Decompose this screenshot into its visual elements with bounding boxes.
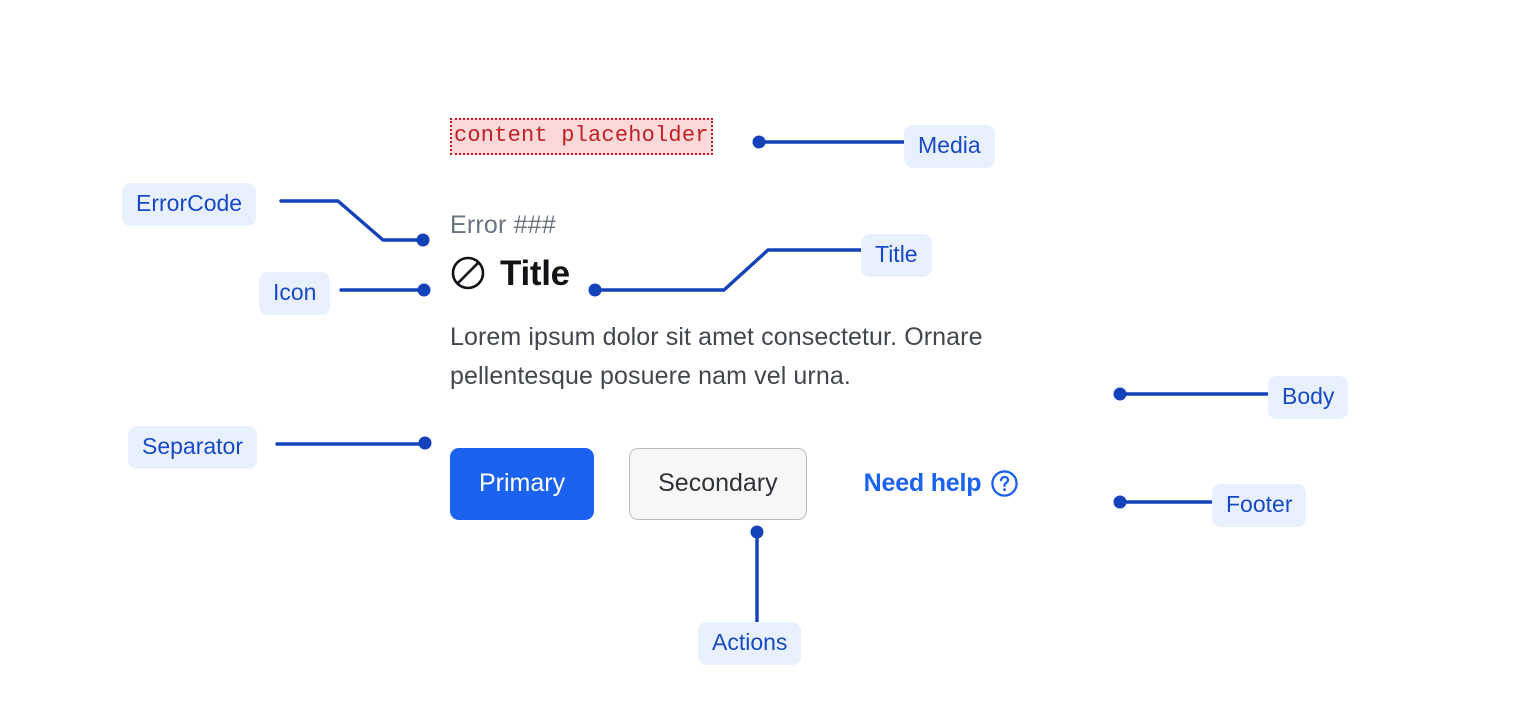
annotation-footer[interactable]: Footer [1212, 484, 1306, 527]
need-help-label: Need help [864, 469, 982, 498]
error-code-text: Error ### [450, 212, 1090, 240]
actions-row: Primary Secondary Need help [450, 448, 1090, 520]
title-row: Title [450, 255, 1090, 291]
annotation-separator[interactable]: Separator [128, 426, 257, 469]
connector-dot-separator [419, 437, 432, 450]
title-text: Title [500, 256, 570, 291]
secondary-button[interactable]: Secondary [629, 448, 807, 520]
need-help-link[interactable]: Need help [864, 469, 1020, 498]
annotated-error-state-canvas: content placeholder Error ### Title Lore… [0, 0, 1536, 724]
media-content-placeholder: content placeholder [450, 118, 713, 155]
body-text: Lorem ipsum dolor sit amet consectetur. … [450, 318, 1090, 396]
error-state-component: content placeholder Error ### Title Lore… [450, 118, 1090, 520]
annotation-body[interactable]: Body [1268, 376, 1348, 419]
prohibited-circle-icon [450, 255, 486, 291]
connector-errorcode [281, 201, 419, 240]
annotation-errorcode[interactable]: ErrorCode [122, 183, 256, 226]
annotation-icon[interactable]: Icon [259, 272, 330, 315]
annotation-media[interactable]: Media [904, 125, 995, 168]
connector-dot-actions [751, 526, 764, 539]
connector-dot-icon [418, 284, 431, 297]
connector-dot-body [1114, 388, 1127, 401]
annotation-actions[interactable]: Actions [698, 622, 801, 665]
question-circle-icon [990, 469, 1019, 498]
connector-dot-errorcode [417, 234, 430, 247]
connector-dot-footer [1114, 496, 1127, 509]
annotation-title[interactable]: Title [861, 234, 932, 277]
primary-button[interactable]: Primary [450, 448, 594, 520]
